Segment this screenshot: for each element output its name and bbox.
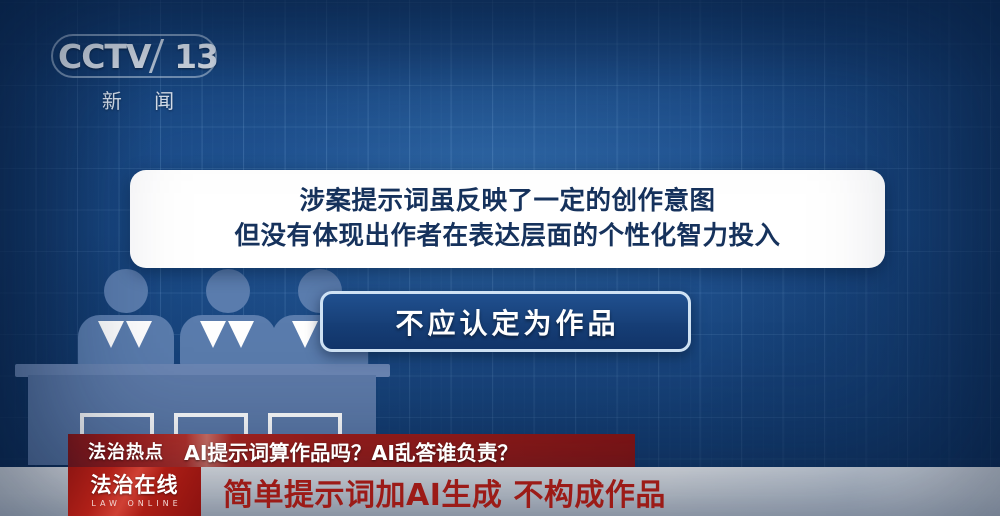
channel-logo: CCTV 13 新 闻 [58,36,218,112]
silhouette-collar-left [98,321,124,348]
channel-logo-row: CCTV 13 [58,36,218,76]
silhouette-body [78,315,174,367]
blue-callout-text: 不应认定为作品 [391,302,619,342]
program-brand-en: LAW ONLINE [87,500,181,508]
program-brand-cn: 法治在线 [91,475,179,496]
silhouette-head [104,269,148,313]
lower-third-red-bar: 法治热点 AI提示词算作品吗？AI乱答谁负责？ [68,434,635,467]
courtroom-scene [0,250,420,465]
lower-third-red-headline: AI提示词算作品吗？AI乱答谁负责？ [178,436,518,466]
white-callout-box: 涉案提示词虽反映了一定的创作意图 但没有体现出作者在表达层面的个性化智力投入 [130,170,885,268]
channel-logo-subtitle: 新 闻 [58,85,218,114]
channel-logo-capsule [51,34,217,78]
white-callout-line-1: 涉案提示词虽反映了一定的创作意图 [299,184,715,219]
broadcast-screen: CCTV 13 新 闻 [0,0,1000,516]
silhouette-collar-left [292,321,318,348]
lower-third-white-bar: 法治在线 LAW ONLINE 简单提示词加AI生成 不构成作品 [0,467,1000,516]
silhouette-body [180,315,276,367]
white-callout-line-2: 但没有体现出作者在表达层面的个性化智力投入 [234,219,780,254]
judge-silhouette [180,269,276,367]
silhouette-head [206,269,250,313]
silhouette-collar-right [228,321,254,348]
judge-silhouette [78,269,174,367]
lower-third-main-headline: 简单提示词加AI生成 不构成作品 [223,470,666,514]
program-brand-logo: 法治在线 LAW ONLINE [68,467,201,516]
lower-third-kicker: 法治热点 [68,438,178,464]
silhouette-collar-left [200,321,226,348]
blue-callout-box: 不应认定为作品 [320,291,691,352]
silhouette-collar-right [126,321,152,348]
